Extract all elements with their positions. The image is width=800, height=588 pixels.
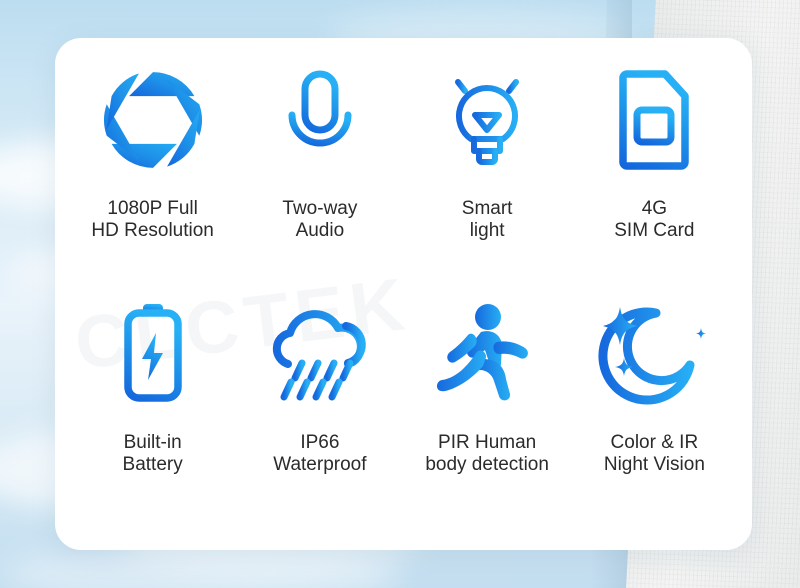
icon-container [594,292,714,416]
battery-charging-icon [114,300,192,408]
feature-caption: Built-in Battery [123,432,183,476]
caption-line-2: body detection [425,454,549,476]
icon-container [613,56,695,184]
feature-caption: Color & IR Night Vision [604,432,705,476]
rain-cloud-icon [258,302,382,406]
feature-item-pir-detection: PIR Human body detection [404,292,571,528]
caption-line-2: Waterproof [273,454,366,476]
feature-caption: IP66 Waterproof [273,432,366,476]
caption-line-1: Built-in [124,432,182,453]
feature-item-two-way-audio: Two-way Audio [236,56,403,292]
caption-line-1: Smart [462,198,513,219]
caption-line-2: Audio [282,220,357,242]
feature-grid: 1080P Full HD Resolution [55,38,752,550]
camera-aperture-icon [101,68,205,172]
feature-caption: Two-way Audio [282,198,357,242]
icon-container [101,56,205,184]
microphone-icon [274,68,366,172]
caption-line-1: 4G [642,198,667,219]
caption-line-1: IP66 [300,432,339,453]
feature-item-built-in-battery: Built-in Battery [69,292,236,528]
light-bulb-icon [433,66,541,174]
sim-card-icon [613,68,695,172]
crescent-moon-stars-icon [594,301,714,407]
caption-line-2: SIM Card [614,220,694,242]
feature-item-1080p: 1080P Full HD Resolution [69,56,236,292]
running-person-icon [431,302,543,406]
sparkle-small [696,328,706,339]
caption-line-2: HD Resolution [91,220,214,242]
caption-line-1: Two-way [282,198,357,219]
icon-container [433,56,541,184]
feature-card: CLCTEK [55,38,752,550]
feature-caption: Smart light [462,198,513,242]
feature-caption: PIR Human body detection [425,432,549,476]
icon-container [431,292,543,416]
caption-line-1: 1080P Full [107,198,198,219]
feature-item-4g-sim: 4G SIM Card [571,56,738,292]
caption-line-2: Night Vision [604,454,705,476]
caption-line-2: Battery [123,454,183,476]
feature-caption: 1080P Full HD Resolution [91,198,214,242]
feature-caption: 4G SIM Card [614,198,694,242]
icon-container [114,292,192,416]
icon-container [258,292,382,416]
feature-item-ip66-waterproof: IP66 Waterproof [236,292,403,528]
caption-line-1: Color & IR [611,432,699,453]
caption-line-1: PIR Human [438,432,536,453]
product-feature-graphic: CLCTEK [0,0,800,588]
caption-line-2: light [462,220,513,242]
feature-item-night-vision: Color & IR Night Vision [571,292,738,528]
icon-container [274,56,366,184]
feature-item-smart-light: Smart light [404,56,571,292]
